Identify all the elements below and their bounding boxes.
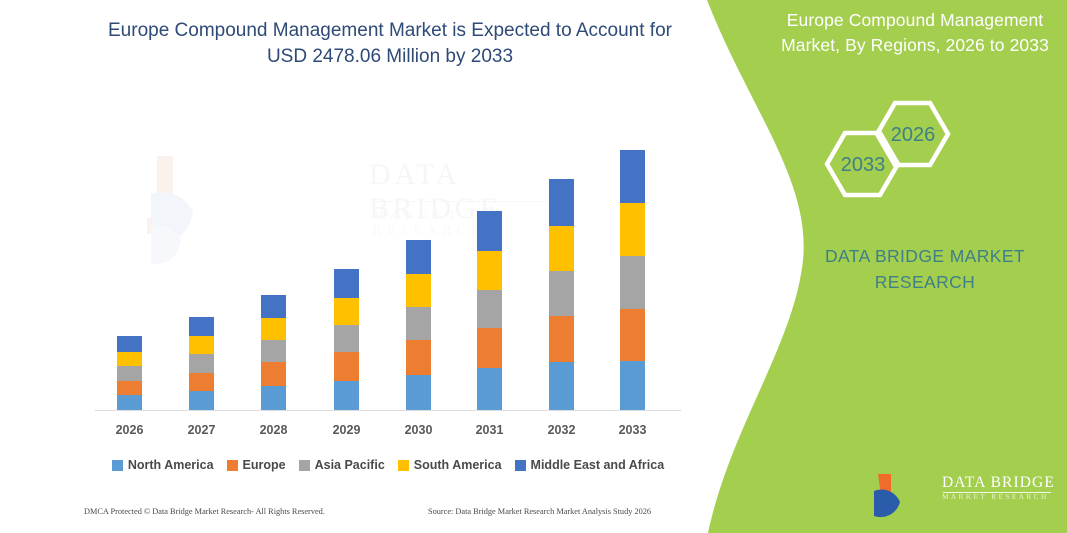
hexagons-svg: 2033 2026	[820, 95, 1020, 205]
x-label-2033: 2033	[603, 423, 663, 437]
watermark-b-logo-icon	[145, 152, 255, 272]
bar-segment-south-america[interactable]	[620, 203, 645, 257]
bar-segment-europe[interactable]	[620, 309, 645, 362]
bar-segment-middle-east-and-africa[interactable]	[549, 179, 574, 226]
legend-label: Middle East and Africa	[531, 458, 665, 472]
legend-item-europe[interactable]: Europe	[227, 458, 286, 472]
bar-2032[interactable]	[549, 179, 574, 410]
watermark-divider	[371, 201, 561, 202]
side-panel-title: Europe Compound Management Market, By Re…	[770, 8, 1060, 58]
x-axis-line	[95, 410, 681, 411]
x-label-2027: 2027	[172, 423, 232, 437]
bar-segment-middle-east-and-africa[interactable]	[334, 269, 359, 297]
bar-2026[interactable]	[117, 336, 142, 410]
x-label-2029: 2029	[317, 423, 377, 437]
legend-swatch	[398, 460, 409, 471]
brand-logo-divider	[943, 492, 1051, 493]
bar-segment-middle-east-and-africa[interactable]	[477, 211, 502, 251]
x-label-2028: 2028	[244, 423, 304, 437]
footer-source: Source: Data Bridge Market Research Mark…	[428, 507, 651, 516]
bar-segment-europe[interactable]	[117, 381, 142, 395]
bar-segment-middle-east-and-africa[interactable]	[261, 295, 286, 318]
legend-label: North America	[128, 458, 214, 472]
bar-segment-south-america[interactable]	[406, 274, 431, 306]
bar-segment-middle-east-and-africa[interactable]	[406, 240, 431, 274]
legend-swatch	[515, 460, 526, 471]
bar-segment-asia-pacific[interactable]	[406, 307, 431, 340]
bar-segment-north-america[interactable]	[620, 361, 645, 410]
side-panel-brand: DATA BRIDGE MARKET RESEARCH	[800, 243, 1050, 295]
bar-segment-middle-east-and-africa[interactable]	[117, 336, 142, 352]
bar-segment-europe[interactable]	[406, 340, 431, 374]
chart-area: Europe Compound Management Market is Exp…	[0, 0, 700, 533]
bar-2030[interactable]	[406, 240, 431, 410]
bar-2027[interactable]	[189, 317, 214, 410]
bar-segment-middle-east-and-africa[interactable]	[189, 317, 214, 336]
legend-item-north-america[interactable]: North America	[112, 458, 214, 472]
legend-swatch	[112, 460, 123, 471]
hexagon-2026-label: 2026	[891, 124, 936, 146]
bar-segment-europe[interactable]	[334, 352, 359, 380]
bar-segment-asia-pacific[interactable]	[620, 256, 645, 309]
hexagon-group: 2033 2026	[820, 95, 1020, 205]
legend-swatch	[227, 460, 238, 471]
legend-item-middle-east-and-africa[interactable]: Middle East and Africa	[515, 458, 665, 472]
bar-segment-asia-pacific[interactable]	[549, 271, 574, 316]
legend-item-asia-pacific[interactable]: Asia Pacific	[299, 458, 385, 472]
x-label-2031: 2031	[460, 423, 520, 437]
x-label-2030: 2030	[389, 423, 449, 437]
bar-segment-europe[interactable]	[261, 362, 286, 385]
bar-segment-north-america[interactable]	[477, 368, 502, 409]
bar-segment-north-america[interactable]	[549, 362, 574, 410]
bar-2031[interactable]	[477, 211, 502, 410]
b-logo-icon	[872, 472, 942, 518]
bar-segment-south-america[interactable]	[261, 318, 286, 340]
bar-2029[interactable]	[334, 269, 359, 410]
bar-segment-south-america[interactable]	[189, 336, 214, 354]
bar-segment-europe[interactable]	[189, 373, 214, 391]
bar-segment-south-america[interactable]	[117, 352, 142, 366]
footer-copyright: DMCA Protected © Data Bridge Market Rese…	[84, 507, 325, 516]
chart-legend: North AmericaEuropeAsia PacificSouth Ame…	[95, 455, 681, 475]
bar-segment-asia-pacific[interactable]	[117, 366, 142, 380]
bar-segment-north-america[interactable]	[117, 395, 142, 410]
bar-segment-north-america[interactable]	[261, 386, 286, 410]
bar-segment-north-america[interactable]	[406, 375, 431, 410]
infographic-canvas: Europe Compound Management Market is Exp…	[0, 0, 1067, 533]
bar-segment-asia-pacific[interactable]	[477, 290, 502, 328]
bar-segment-south-america[interactable]	[549, 226, 574, 272]
x-label-2026: 2026	[100, 423, 160, 437]
legend-label: South America	[414, 458, 502, 472]
hexagon-2033-label: 2033	[841, 154, 886, 176]
legend-item-south-america[interactable]: South America	[398, 458, 502, 472]
brand-logo-text: DATA BRIDGE MARKET RESEARCH	[942, 474, 1062, 503]
bar-segment-europe[interactable]	[549, 316, 574, 363]
bar-segment-asia-pacific[interactable]	[261, 340, 286, 362]
bar-segment-asia-pacific[interactable]	[189, 354, 214, 372]
bar-segment-north-america[interactable]	[189, 391, 214, 410]
legend-swatch	[299, 460, 310, 471]
chart-title: Europe Compound Management Market is Exp…	[95, 18, 685, 70]
bar-segment-north-america[interactable]	[334, 381, 359, 410]
bar-segment-asia-pacific[interactable]	[334, 325, 359, 352]
brand-logo-title: DATA BRIDGE	[942, 474, 1062, 491]
bar-segment-south-america[interactable]	[334, 298, 359, 325]
legend-label: Asia Pacific	[315, 458, 385, 472]
bar-2028[interactable]	[261, 295, 286, 410]
bar-segment-middle-east-and-africa[interactable]	[620, 150, 645, 203]
watermark-subtitle: MARKET RESEARCH	[373, 208, 486, 238]
x-label-2032: 2032	[532, 423, 592, 437]
bar-segment-europe[interactable]	[477, 328, 502, 368]
watermark: DATA BRIDGE MARKET RESEARCH	[145, 152, 415, 272]
bar-segment-south-america[interactable]	[477, 251, 502, 289]
legend-label: Europe	[243, 458, 286, 472]
bar-2033[interactable]	[620, 150, 645, 410]
